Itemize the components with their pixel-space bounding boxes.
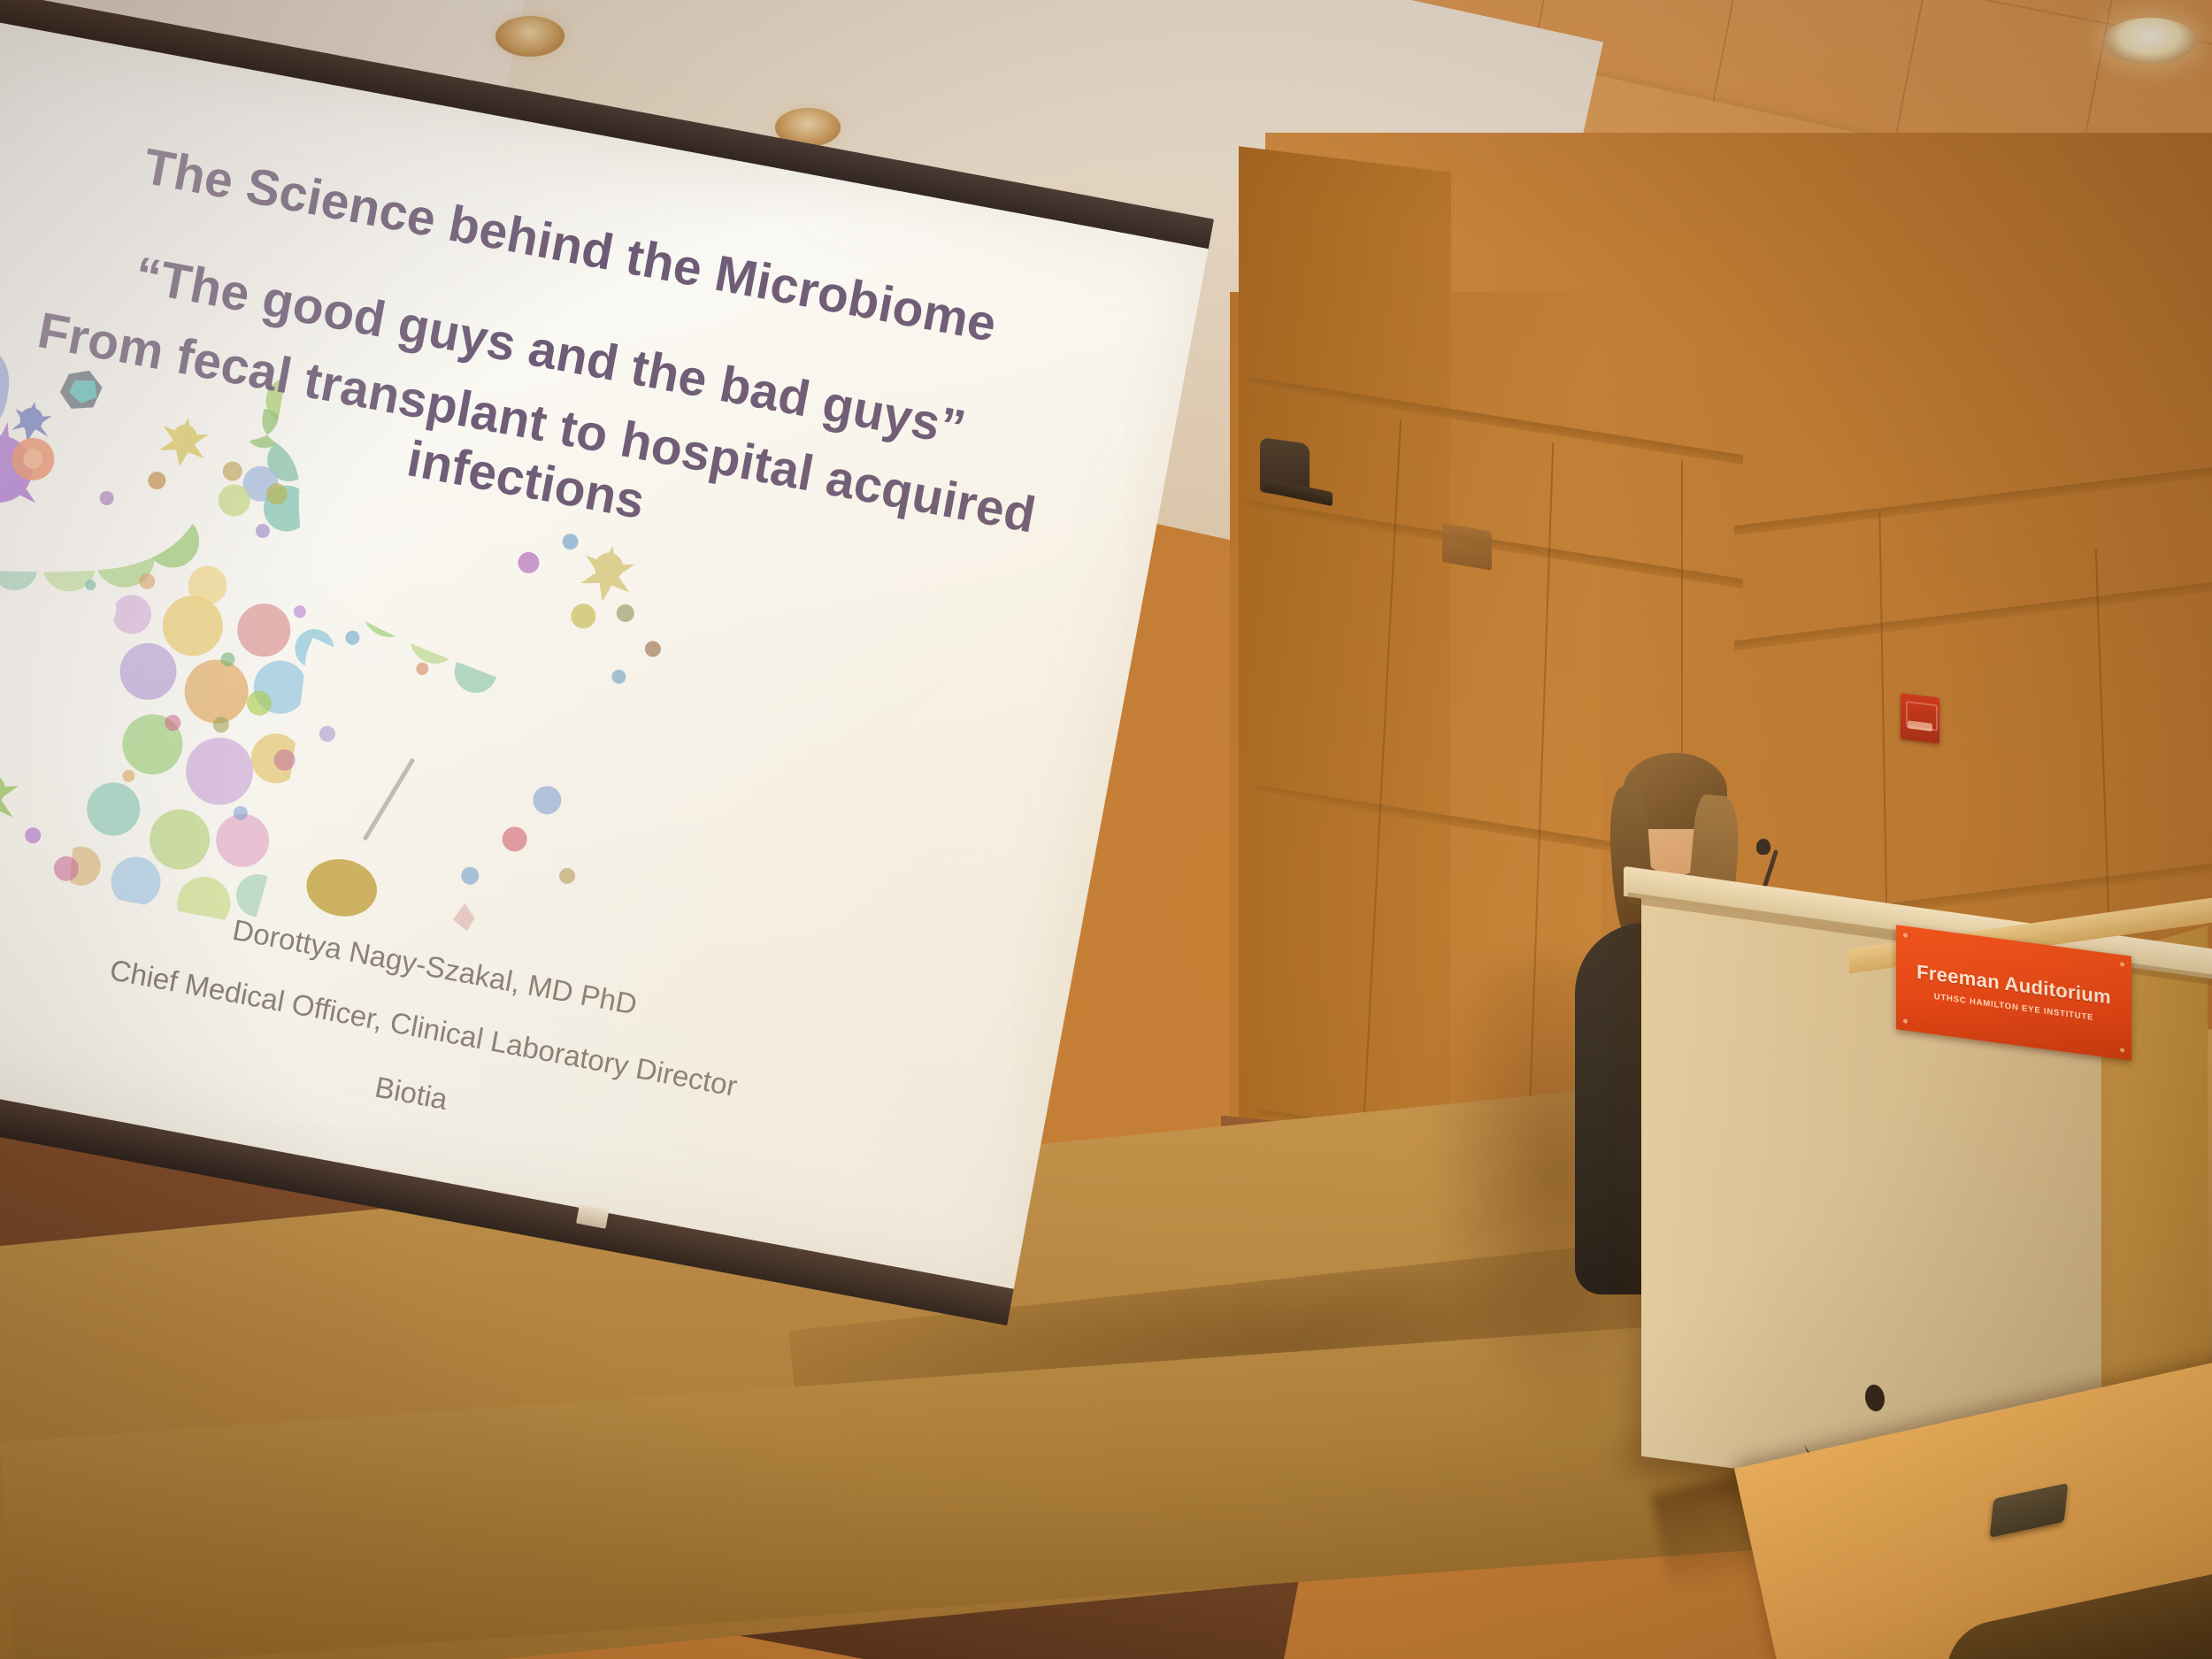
plaque-screw (2120, 1048, 2124, 1053)
plaque-screw (1903, 933, 1908, 938)
recessed-ceiling-light (2104, 18, 2196, 64)
plaque-screw (1903, 1018, 1908, 1024)
fire-alarm-pull-station[interactable] (1901, 693, 1939, 743)
projection-screen: The Science behind the Microbiome “The g… (0, 18, 1209, 1406)
recessed-ceiling-light (495, 16, 565, 57)
lecture-hall-photo: The Science behind the Microbiome “The g… (0, 0, 2212, 1659)
wood-wall-corner (1239, 146, 1451, 1269)
microphone-capsule (1756, 839, 1770, 855)
presenter-organization: Biotia (0, 961, 1032, 1225)
plaque-screw (2120, 962, 2124, 967)
